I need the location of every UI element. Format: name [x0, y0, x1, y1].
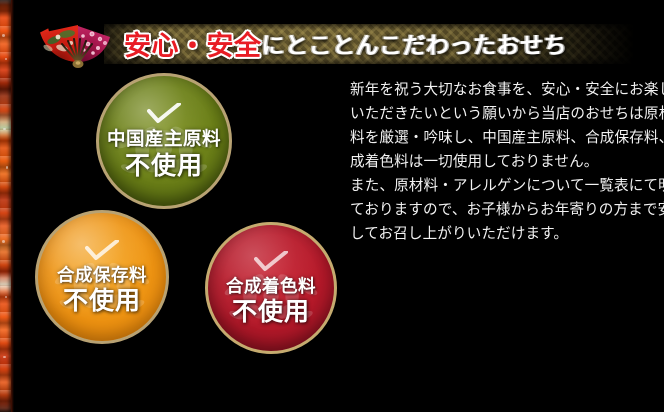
badge-line1: 合成着色料: [226, 278, 316, 297]
badge-line2: 不使用: [63, 288, 141, 314]
body-line-1: 新年を祝う大切なお食事を、安心・安全にお楽しみ: [350, 78, 664, 102]
banner-title: 安心・安全 にとことんこだわったおせち: [124, 22, 567, 64]
badge-synthetic-preservative: 合成保存料 不使用: [35, 210, 169, 344]
checkmark-icon: [85, 240, 119, 266]
body-line-7: してお召し上がりいただけます。: [350, 222, 664, 246]
badge-china-origin: 中国産主原料 不使用: [96, 73, 232, 209]
badge-synthetic-coloring: 合成着色料 不使用: [205, 222, 337, 354]
strip-inner-edge: [11, 0, 14, 412]
body-line-3: 料を厳選・吟味し、中国産主原料、合成保存料、合: [350, 126, 664, 150]
badge-line2: 不使用: [125, 153, 203, 179]
body-line-2: いただきたいという願いから当店のおせちは原材: [350, 102, 664, 126]
title-accent-text: 安心・安全: [124, 24, 262, 63]
badge-line1: 中国産主原料: [107, 130, 221, 150]
promo-banner: 安心・安全 にとことんこだわったおせち: [0, 0, 664, 412]
checkmark-icon: [254, 251, 288, 277]
japanese-folding-fan-icon: [36, 10, 120, 72]
badge-line1: 合成保存料: [57, 267, 147, 286]
body-line-4: 成着色料は一切使用しておりません。: [350, 150, 664, 174]
left-decorative-strip: [0, 0, 11, 412]
title-rest-text: にとことんこだわったおせち: [262, 26, 568, 60]
badge-line2: 不使用: [232, 299, 310, 325]
body-line-5: また、原材料・アレルゲンについて一覧表にて明記し: [350, 174, 664, 198]
checkmark-icon: [147, 103, 181, 129]
body-line-6: ておりますので、お子様からお年寄りの方まで安心: [350, 198, 664, 222]
body-copy: 新年を祝う大切なお食事を、安心・安全にお楽しみ いただきたいという願いから当店の…: [350, 78, 664, 246]
